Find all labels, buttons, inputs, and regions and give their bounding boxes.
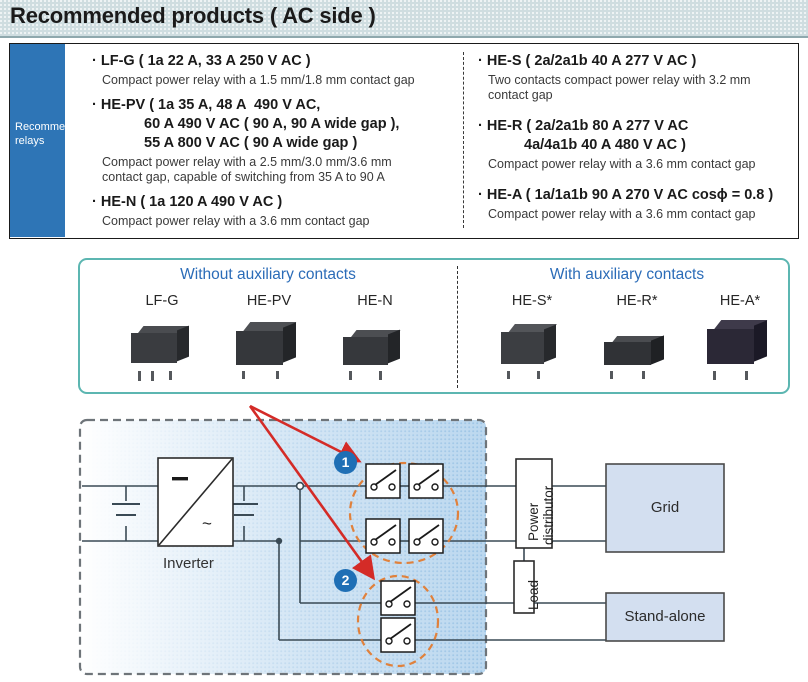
relay-card-lfg: LF-G xyxy=(110,293,214,381)
relay-photo-hepv xyxy=(217,313,321,381)
spec-item-title-cont: 55 A 800 V AC ( 90 A wide gap ) xyxy=(92,134,460,153)
spec-column-divider xyxy=(463,52,464,228)
spec-item-desc: Compact power relay with a 3.6 mm contac… xyxy=(478,207,804,222)
spec-item: · LF-G ( 1a 22 A, 33 A 250 V AC ) Compac… xyxy=(92,52,460,88)
relay-card-hes: HE-S* xyxy=(480,293,584,381)
relay-photo-lfg xyxy=(110,313,214,381)
load-label: Load xyxy=(526,580,541,610)
spec-item-title: · HE-N ( 1a 120 A 490 V AC ) xyxy=(92,193,460,212)
spec-item-title: · HE-R ( 2a/2a1b 80 A 277 V AC xyxy=(478,117,804,136)
power-distributor-label-line1: Power xyxy=(526,503,541,541)
relay-photo-her xyxy=(585,313,689,381)
spec-item-desc: Compact power relay with a 3.6 mm contac… xyxy=(478,157,804,172)
marker-2: 2 xyxy=(334,569,357,592)
group-title-without-aux: Without auxiliary contacts xyxy=(88,266,448,284)
grid-label: Grid xyxy=(606,499,724,516)
power-distributor-label-line2: distributor xyxy=(541,486,556,545)
spec-item: · HE-N ( 1a 120 A 490 V AC ) Compact pow… xyxy=(92,193,460,229)
spec-item-title-cont: 4a/4a1b 40 A 480 V AC ) xyxy=(478,136,804,155)
spec-item-title: · HE-PV ( 1a 35 A, 48 A 490 V AC, xyxy=(92,96,460,115)
inverter-block: ~ xyxy=(158,458,233,546)
spec-item-desc: Two contacts compact power relay with 3.… xyxy=(478,73,804,103)
group-title-with-aux: With auxiliary contacts xyxy=(468,266,786,284)
relay-card-hen: HE-N xyxy=(323,293,427,381)
header-underline xyxy=(0,36,808,38)
spec-item: · HE-S ( 2a/2a1b 40 A 277 V AC ) Two con… xyxy=(478,52,804,103)
spec-item: · HE-PV ( 1a 35 A, 48 A 490 V AC, 60 A 4… xyxy=(92,96,460,185)
standalone-label: Stand-alone xyxy=(606,608,724,625)
relay-name: HE-A* xyxy=(688,293,792,309)
circuit-diagram: ~ xyxy=(0,398,808,682)
recommended-relays-tab: Recommended relays xyxy=(10,44,65,237)
relay-name: LF-G xyxy=(110,293,214,309)
marker-1: 1 xyxy=(334,451,357,474)
relay-name: HE-R* xyxy=(585,293,689,309)
relay-photo-hen xyxy=(323,313,427,381)
spec-item-title: · LF-G ( 1a 22 A, 33 A 250 V AC ) xyxy=(92,52,460,71)
relay-gallery-panel: Without auxiliary contacts With auxiliar… xyxy=(78,258,790,394)
relay-photo-hea xyxy=(688,313,792,381)
inverter-label: Inverter xyxy=(163,555,214,572)
recommended-relays-box: Recommended relays · LF-G ( 1a 22 A, 33 … xyxy=(9,43,799,239)
spec-item-title: · HE-A ( 1a/1a1b 90 A 270 V AC cosɸ = 0.… xyxy=(478,186,804,205)
relay-name: HE-PV xyxy=(217,293,321,309)
spec-item-title: · HE-S ( 2a/2a1b 40 A 277 V AC ) xyxy=(478,52,804,71)
relay-card-hea: HE-A* xyxy=(688,293,792,381)
relay-photo-hes xyxy=(480,313,584,381)
spec-column-left: · LF-G ( 1a 22 A, 33 A 250 V AC ) Compac… xyxy=(92,52,460,233)
spec-item-desc: Compact power relay with a 2.5 mm/3.0 mm… xyxy=(92,155,460,185)
spec-item-title-cont: 60 A 490 V AC ( 90 A, 90 A wide gap ), xyxy=(92,115,460,134)
spec-column-right: · HE-S ( 2a/2a1b 40 A 277 V AC ) Two con… xyxy=(478,52,804,226)
spec-item: · HE-R ( 2a/2a1b 80 A 277 V AC 4a/4a1b 4… xyxy=(478,117,804,172)
page-root: Recommended products ( AC side ) Recomme… xyxy=(0,0,808,682)
page-header: Recommended products ( AC side ) xyxy=(0,0,808,36)
relay-name: HE-N xyxy=(323,293,427,309)
relay-name: HE-S* xyxy=(480,293,584,309)
page-title: Recommended products ( AC side ) xyxy=(10,3,376,29)
relay-card-hepv: HE-PV xyxy=(217,293,321,381)
spec-item-desc: Compact power relay with a 1.5 mm/1.8 mm… xyxy=(92,73,460,88)
relay-group-divider xyxy=(457,266,458,388)
circuit-diagram-svg: ~ xyxy=(0,398,808,682)
spec-item: · HE-A ( 1a/1a1b 90 A 270 V AC cosɸ = 0.… xyxy=(478,186,804,222)
relay-card-her: HE-R* xyxy=(585,293,689,381)
svg-text:~: ~ xyxy=(202,514,212,533)
spec-item-desc: Compact power relay with a 3.6 mm contac… xyxy=(92,214,460,229)
